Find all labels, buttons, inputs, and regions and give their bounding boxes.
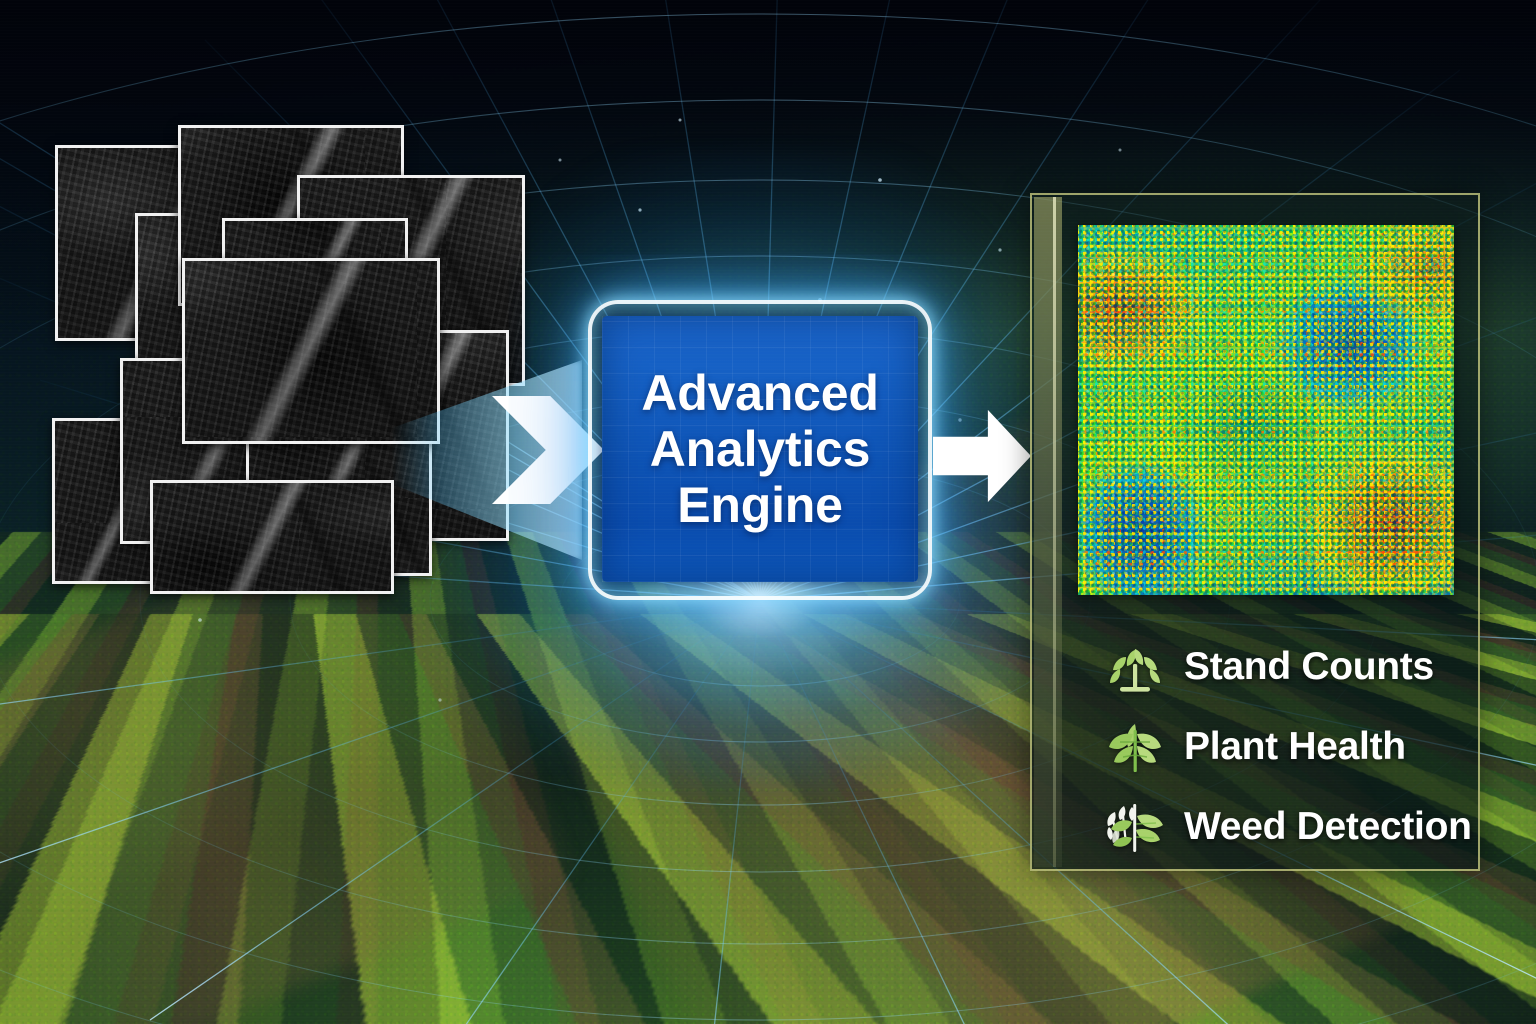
feature-item-stand-counts[interactable]: Stand Counts: [1098, 627, 1468, 707]
feature-label: Stand Counts: [1184, 645, 1434, 689]
aerial-imagery-tile-stack: [0, 0, 520, 620]
aerial-tile: [182, 258, 440, 444]
feature-label: Weed Detection: [1184, 805, 1472, 849]
engine-title: Advanced Analytics Engine: [641, 365, 878, 533]
seedling-icon-svg: [1102, 638, 1168, 696]
feature-item-plant-health[interactable]: Plant Health: [1098, 707, 1468, 787]
leaf-cluster-icon: [1098, 716, 1172, 778]
feature-item-weed-detection[interactable]: Weed Detection: [1098, 787, 1468, 867]
leaf-cluster-icon-svg: [1102, 718, 1168, 776]
aerial-tile: [150, 480, 394, 594]
feature-list: Stand Counts: [1098, 627, 1468, 867]
analytics-output-panel: Stand Counts: [1030, 193, 1480, 871]
seedling-icon: [1098, 636, 1172, 698]
feature-label: Plant Health: [1184, 725, 1406, 769]
panel-accent-strip: [1034, 197, 1062, 867]
engine-body: Advanced Analytics Engine: [602, 316, 918, 582]
weed-plant-icon-svg: [1102, 798, 1168, 856]
heatmap-speckle-2: [1078, 225, 1454, 595]
infographic-canvas: Advanced Analytics Engine: [0, 0, 1536, 1024]
advanced-analytics-engine[interactable]: Advanced Analytics Engine: [588, 300, 932, 600]
weed-plant-icon: [1098, 796, 1172, 858]
ndvi-vegetation-heatmap[interactable]: [1078, 225, 1454, 595]
